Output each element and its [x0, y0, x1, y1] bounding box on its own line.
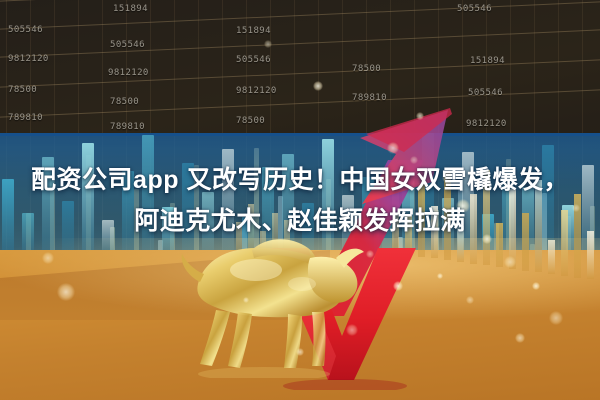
- bokeh-dot: [393, 281, 403, 291]
- headline-line-1: 配资公司app 又改写历史！中国女双雪橇爆发，: [14, 160, 586, 201]
- bokeh-dot: [504, 256, 516, 268]
- bokeh-dot: [532, 282, 540, 290]
- bokeh-dot: [346, 324, 358, 336]
- bokeh-dot: [416, 112, 424, 120]
- bokeh-dot: [437, 273, 443, 279]
- headline: 配资公司app 又改写历史！中国女双雪橇爆发， 阿迪克尤木、赵佳颖发挥拉满: [0, 160, 600, 242]
- bokeh-dot: [313, 81, 323, 91]
- bokeh-dot: [42, 252, 54, 264]
- bokeh-dot: [515, 333, 525, 343]
- news-banner-image: 1518945055469812120785007898101518945055…: [0, 0, 600, 400]
- bokeh-dot: [264, 40, 272, 48]
- bokeh-dot: [387, 142, 399, 154]
- bokeh-dot: [243, 297, 249, 303]
- headline-line-2: 阿迪克尤木、赵佳颖发挥拉满: [14, 201, 586, 242]
- bokeh-dot: [296, 348, 304, 356]
- bokeh-dot: [549, 311, 563, 325]
- bokeh-dot: [366, 250, 374, 258]
- bokeh-dot: [466, 296, 474, 304]
- bokeh-dot: [57, 283, 75, 301]
